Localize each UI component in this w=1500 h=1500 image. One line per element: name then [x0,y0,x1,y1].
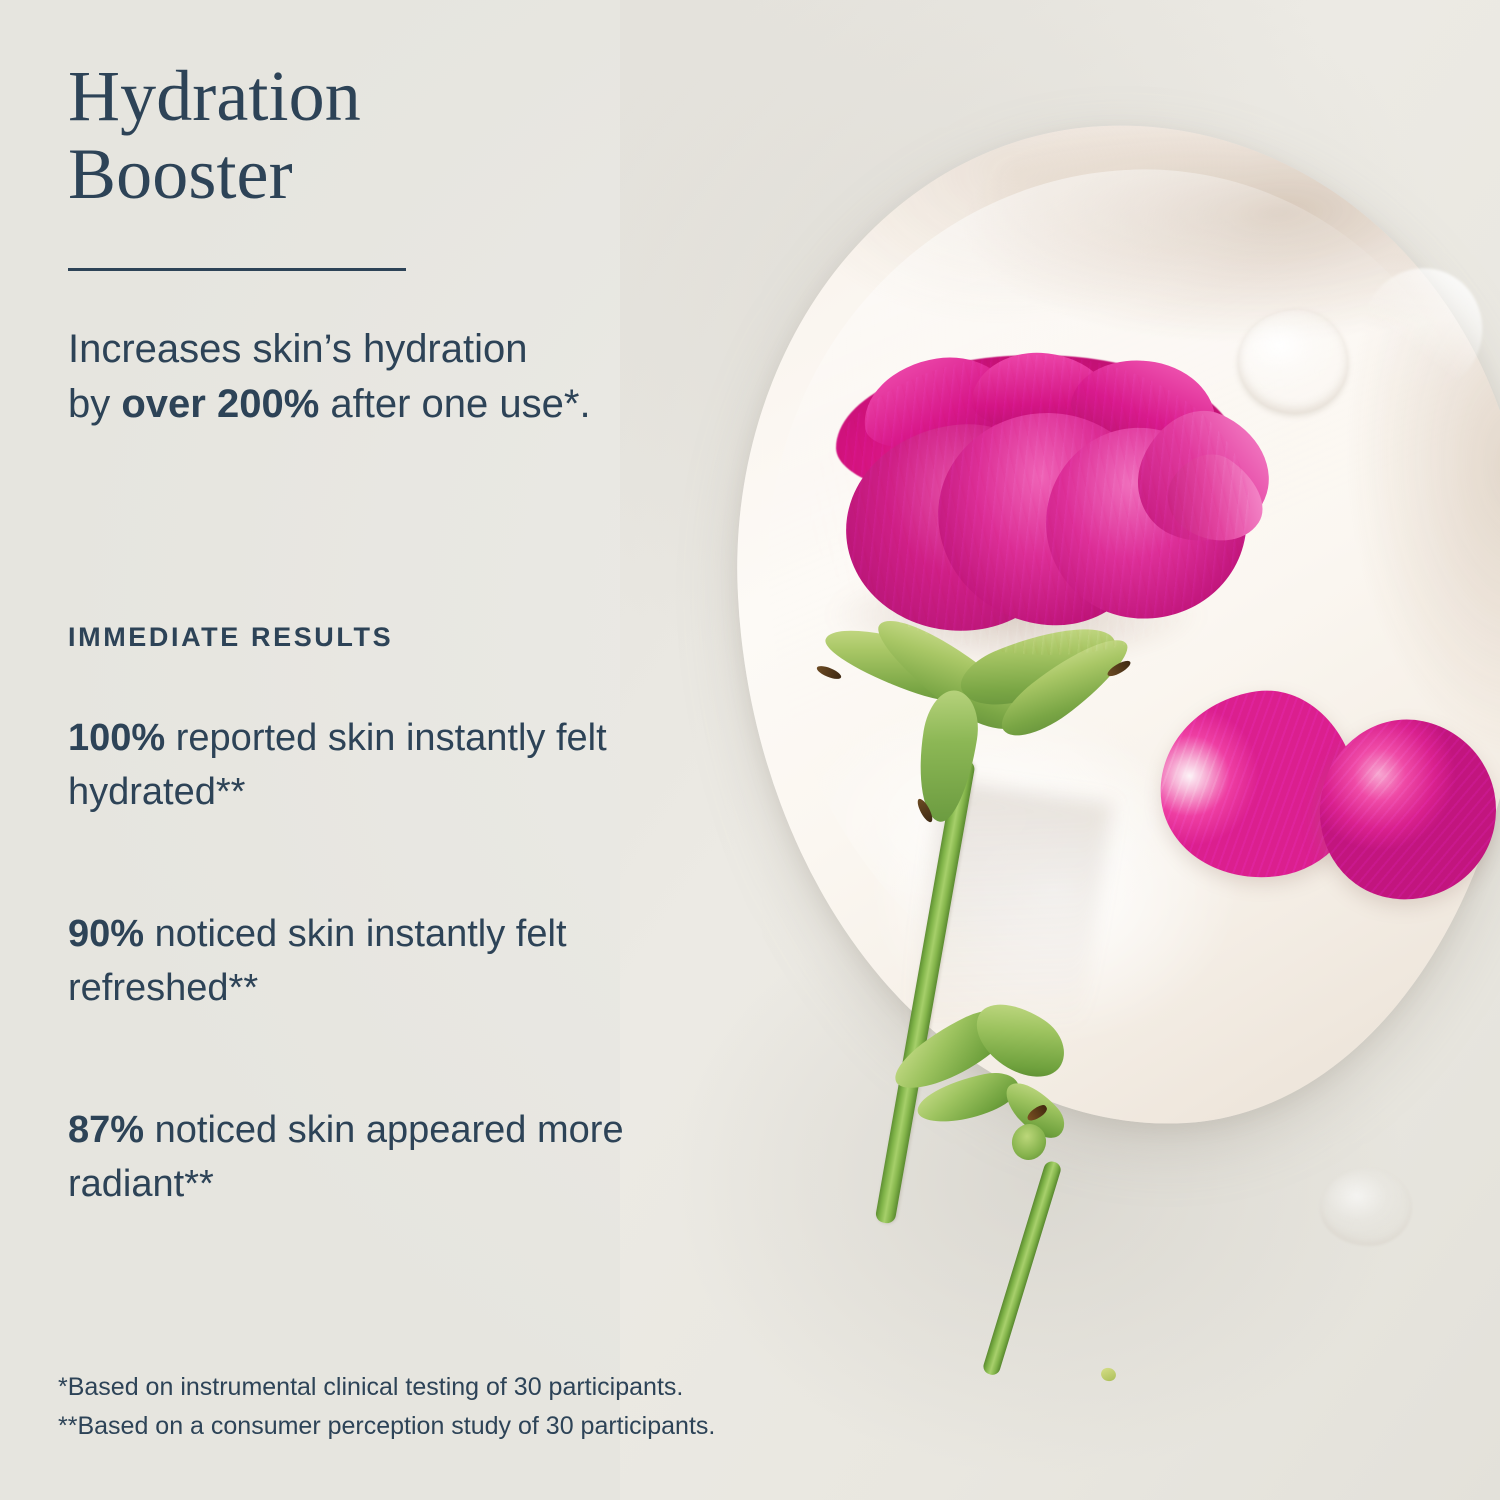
hero-claim-line1: Increases skin’s hydration [68,327,528,371]
footnote-single-asterisk: *Based on instrumental clinical testing … [58,1368,715,1407]
results-section-label: IMMEDIATE RESULTS [68,622,393,653]
result-item: 100% reported skin instantly felt hydrat… [68,712,758,820]
title-divider [68,268,406,271]
result-text: noticed skin appeared more radiant** [68,1109,624,1205]
hero-claim: Increases skin’s hydration by over 200% … [68,322,768,432]
rose-bloom [810,355,1250,655]
stem-cut-end [1099,1366,1117,1383]
copy-column: Hydration Booster Increases skin’s hydra… [0,0,760,1500]
page-title: Hydration Booster [68,58,668,214]
footnotes: *Based on instrumental clinical testing … [58,1368,715,1446]
result-percent: 100% [68,717,165,759]
product-claims-card: Hydration Booster Increases skin’s hydra… [0,0,1500,1500]
rose-stem-lower [981,1160,1062,1377]
result-percent: 87% [68,1109,144,1151]
hero-claim-suffix: after one use*. [319,382,590,426]
hero-claim-prefix: by [68,382,121,426]
hero-claim-highlight: over 200% [121,382,319,426]
result-item: 87% noticed skin appeared more radiant** [68,1104,758,1212]
result-item: 90% noticed skin instantly felt refreshe… [68,908,758,1016]
result-percent: 90% [68,913,144,955]
footnote-double-asterisk: **Based on a consumer perception study o… [58,1407,715,1446]
